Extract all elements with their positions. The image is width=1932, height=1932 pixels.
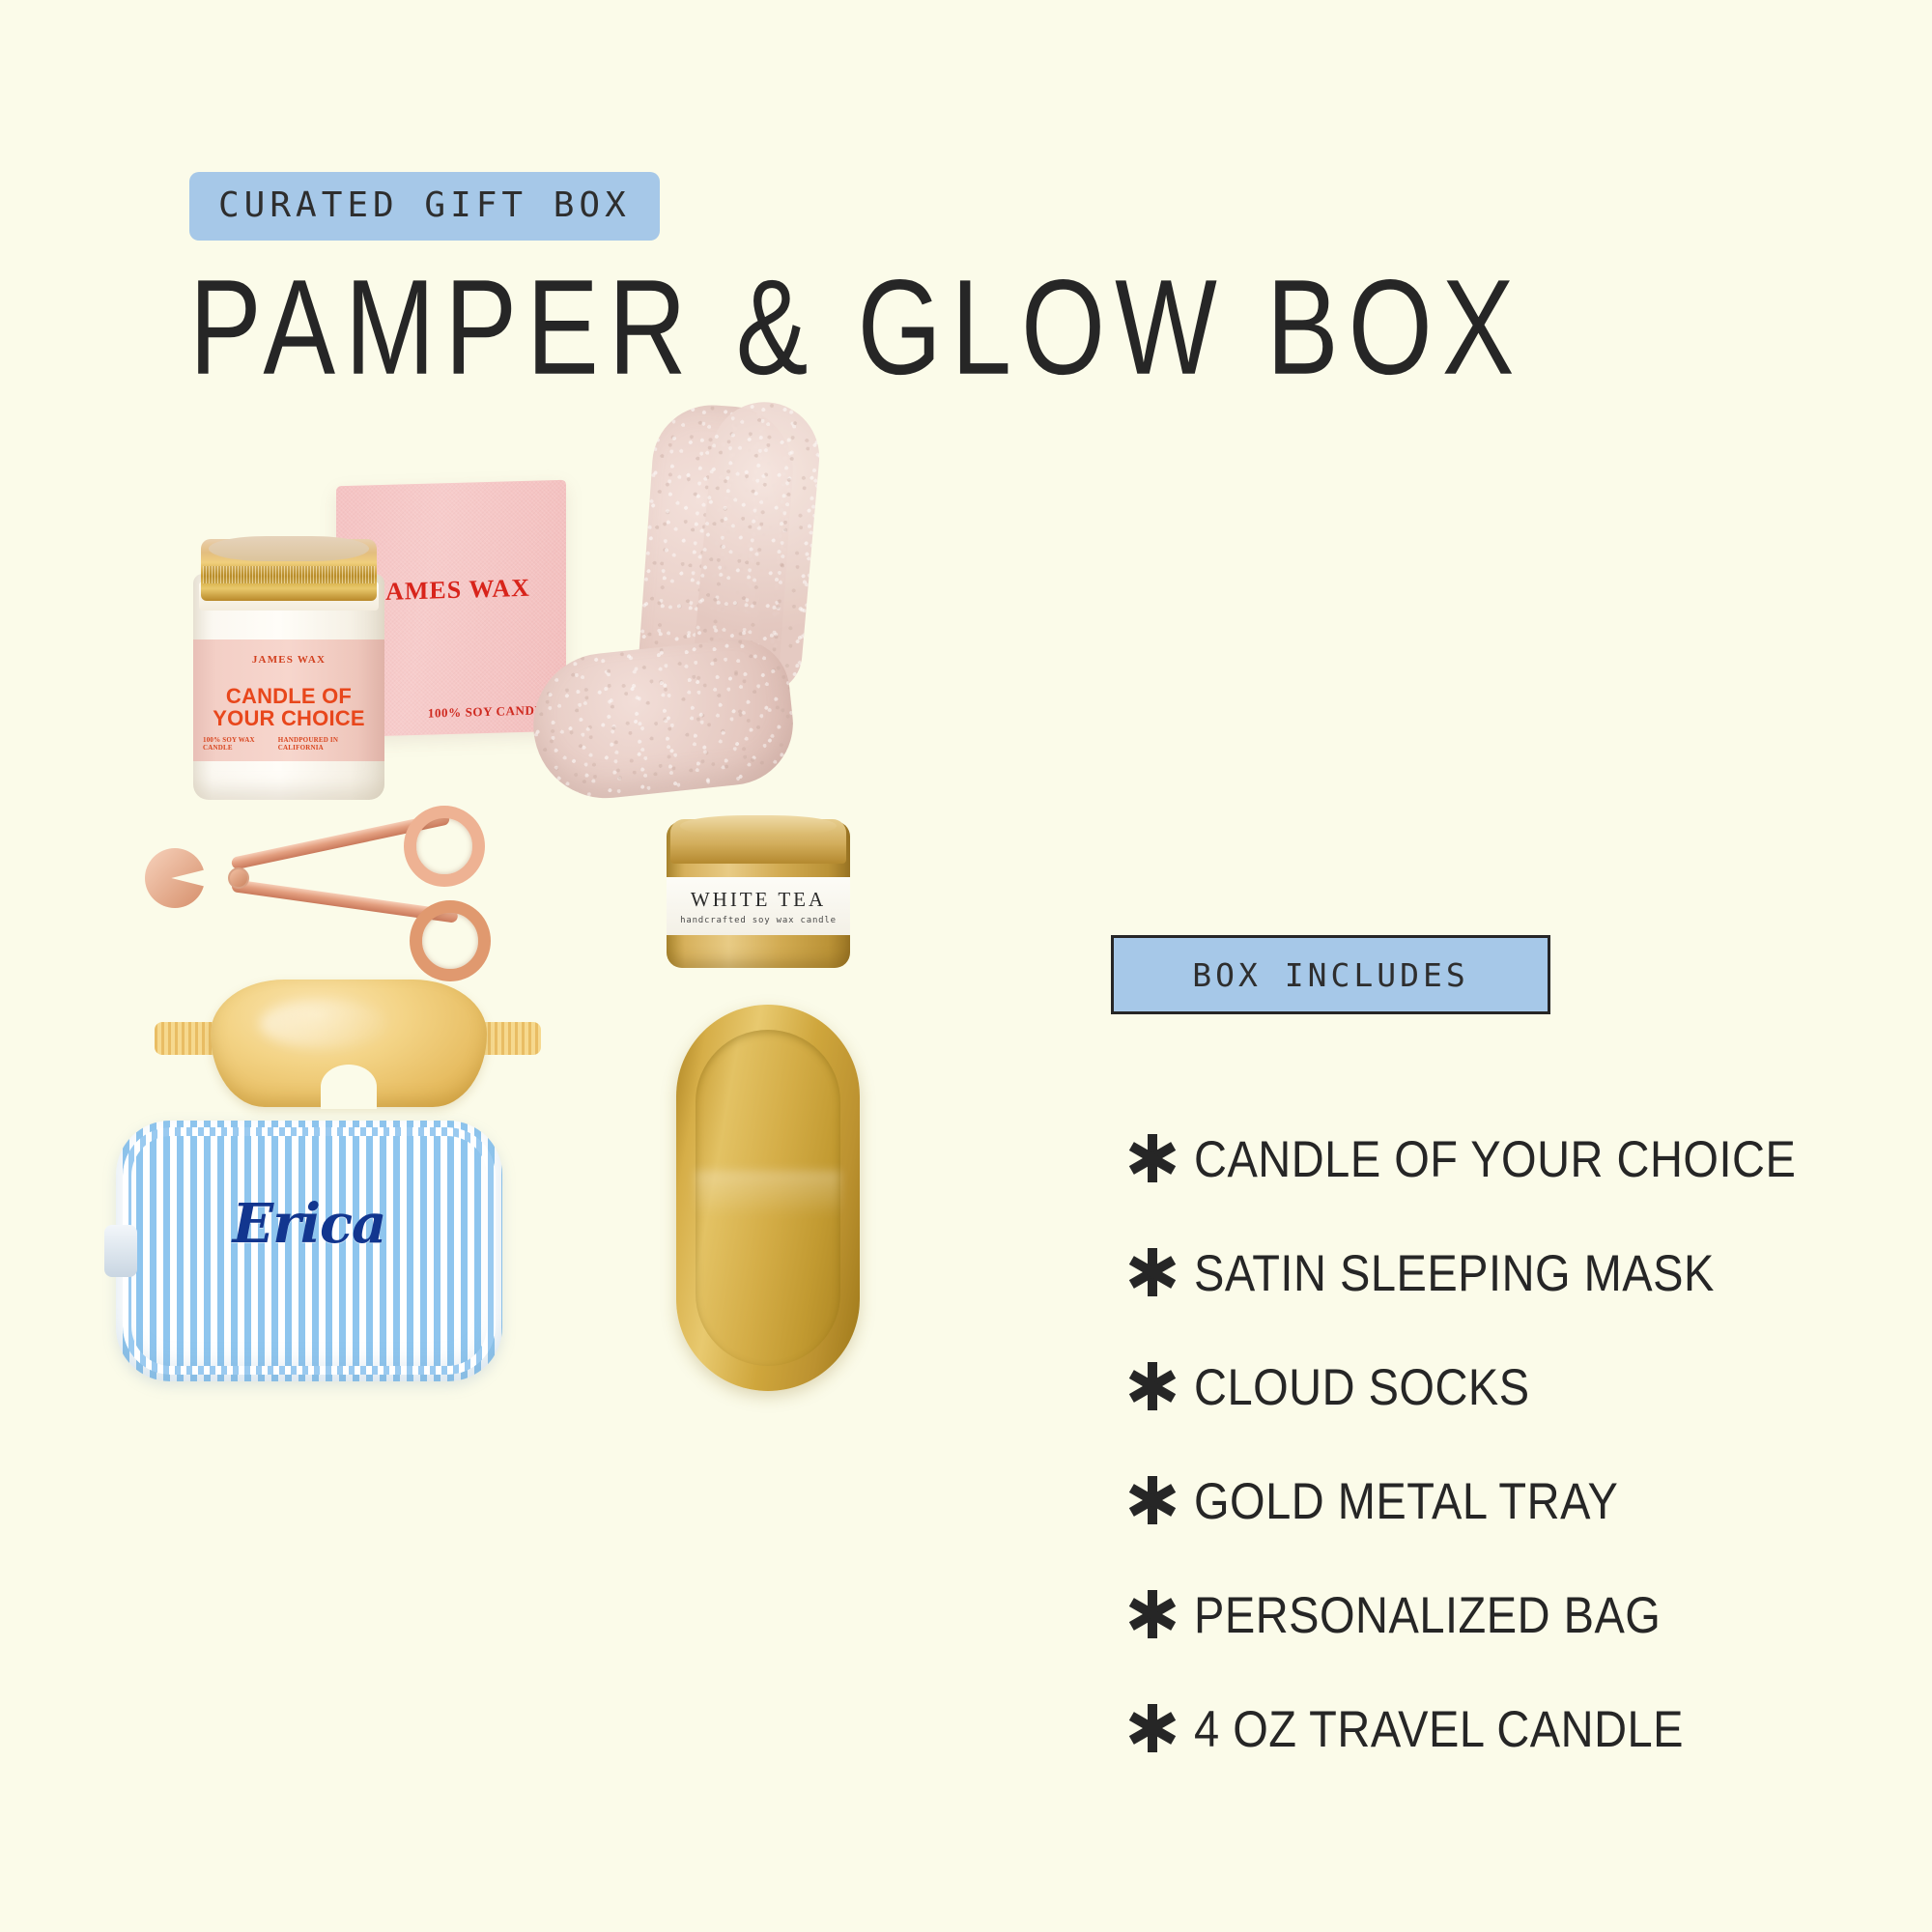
bag-monogram: Erica [116,1192,502,1256]
gift-box-graphic: CURATED GIFT BOX PAMPER & GLOW BOX JAMES… [0,0,1932,1932]
candle-box-brand: JAMES WAX [372,574,530,608]
list-item-label: 4 OZ TRAVEL CANDLE [1194,1698,1684,1758]
list-item-label: CLOUD SOCKS [1194,1356,1530,1416]
list-item: SATIN SLEEPING MASK [1111,1215,1845,1329]
jar-name-line-2: YOUR CHOICE [213,707,364,729]
jar-name-line-1: CANDLE OF [213,685,364,707]
asterisk-icon [1111,1246,1194,1298]
list-item: GOLD METAL TRAY [1111,1443,1845,1557]
personalized-bag: Erica [116,1121,502,1381]
box-includes-label: BOX INCLUDES [1192,956,1468,994]
asterisk-icon [1111,1474,1194,1526]
tin-scent-name: WHITE TEA [691,888,826,912]
mask-sheen [260,1000,387,1048]
jar-footer-left: 100% SOY WAX CANDLE [203,736,278,752]
box-includes-heading: BOX INCLUDES [1111,935,1550,1014]
curated-gift-box-badge: CURATED GIFT BOX [189,172,660,241]
tin-subtitle: handcrafted soy wax candle [680,916,837,925]
jar-footer-right: HANDPOURED IN CALIFORNIA [278,736,375,752]
list-item-label: PERSONALIZED BAG [1194,1584,1661,1644]
list-item: CLOUD SOCKS [1111,1329,1845,1443]
badge-label: CURATED GIFT BOX [218,185,631,225]
jar-gold-lid [201,539,377,601]
wick-trimmer [135,811,473,966]
jar-footer: 100% SOY WAX CANDLE HANDPOURED IN CALIFO… [193,736,384,752]
satin-sleeping-mask [155,976,541,1111]
product-collage: JAMES WAX 100% SOY CANDLE JAMES WAX CAND… [0,502,966,1855]
list-item-label: SATIN SLEEPING MASK [1194,1242,1715,1302]
list-item-label: CANDLE OF YOUR CHOICE [1194,1128,1796,1188]
trimmer-ring-upper [404,806,485,887]
list-item: CANDLE OF YOUR CHOICE [1111,1101,1845,1215]
sock-foot [526,634,799,805]
tray-inner-basin [696,1030,840,1366]
trimmer-blade-head [145,848,205,908]
tin-label: WHITE TEA handcrafted soy wax candle [667,877,850,935]
page-title: PAMPER & GLOW BOX [189,249,1524,405]
trimmer-pivot-screw [228,867,249,889]
jar-product-name: CANDLE OF YOUR CHOICE [213,685,364,730]
candle-jar: JAMES WAX CANDLE OF YOUR CHOICE 100% SOY… [193,539,384,800]
cloud-socks [541,406,850,860]
list-item: PERSONALIZED BAG [1111,1557,1845,1671]
asterisk-icon [1111,1588,1194,1640]
box-includes-list: CANDLE OF YOUR CHOICE SATIN SLEEPING MAS… [1111,1101,1845,1785]
list-item: 4 OZ TRAVEL CANDLE [1111,1671,1845,1785]
asterisk-icon [1111,1360,1194,1412]
tray-sheen [696,1171,840,1217]
tin-lid [670,819,846,864]
jar-brand: JAMES WAX [252,654,326,666]
gold-metal-tray [676,1005,860,1391]
asterisk-icon [1111,1702,1194,1754]
trimmer-ring-lower [410,900,491,981]
asterisk-icon [1111,1132,1194,1184]
travel-candle-tin: WHITE TEA handcrafted soy wax candle [667,821,850,968]
mask-body [211,980,487,1107]
jar-label: JAMES WAX CANDLE OF YOUR CHOICE 100% SOY… [193,639,384,761]
list-item-label: GOLD METAL TRAY [1194,1470,1618,1530]
